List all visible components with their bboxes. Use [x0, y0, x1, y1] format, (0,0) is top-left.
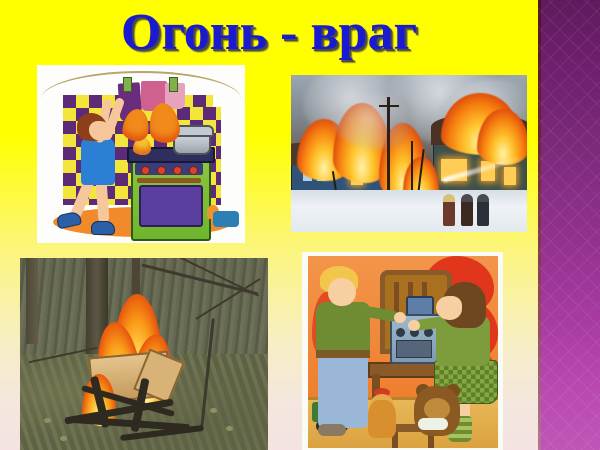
- picture-forest-bonfire[interactable]: [20, 258, 268, 450]
- kitchen-scene: [37, 65, 245, 243]
- side-band-texture: [538, 0, 600, 450]
- picture-kitchen-laundry-fire[interactable]: [37, 65, 245, 243]
- picture-children-toy-stove[interactable]: [302, 252, 503, 450]
- girl-hand: [408, 320, 420, 331]
- girl-shoe: [91, 221, 115, 235]
- girl-face: [436, 296, 462, 320]
- boy-jeans: [318, 356, 368, 428]
- oven-handle: [137, 178, 201, 183]
- fallen-leaf: [210, 408, 217, 413]
- boy-belt: [316, 350, 370, 358]
- tree-trunk: [26, 258, 38, 344]
- stove-knob: [157, 166, 166, 175]
- slide-canvas: Огонь - враг: [0, 0, 600, 450]
- boy-hand: [394, 312, 406, 323]
- fallen-leaf: [60, 436, 67, 441]
- village-fire-scene: [291, 75, 527, 232]
- firefighter-helmet: [477, 194, 489, 202]
- clothespin: [123, 77, 132, 92]
- power-pole-crossarm: [379, 105, 399, 107]
- stove-knob: [189, 166, 198, 175]
- fallen-leaf: [226, 426, 233, 431]
- fallen-leaf: [44, 418, 51, 423]
- snow-ground: [291, 190, 527, 232]
- house-window-burning: [504, 167, 516, 185]
- children-fire-scene: [302, 252, 503, 450]
- boy-face: [328, 278, 356, 306]
- stove-knob: [141, 166, 150, 175]
- stove-knob: [173, 166, 182, 175]
- bonfire-scene: [20, 258, 268, 450]
- decorative-side-band: [538, 0, 600, 450]
- clothespin: [169, 77, 178, 92]
- girl-dress: [81, 137, 115, 185]
- oven-door: [139, 185, 203, 227]
- smoke-cloud: [333, 93, 423, 149]
- teddy-bear-bib: [418, 418, 448, 430]
- picture-village-house-fire[interactable]: [291, 75, 527, 232]
- page-title: Огонь - враг: [0, 2, 538, 64]
- girl-face: [89, 121, 111, 141]
- boy-sandal: [318, 424, 346, 436]
- floor-toy: [213, 211, 239, 227]
- firefighter-helmet: [443, 194, 455, 202]
- toy-stove-door: [396, 340, 432, 358]
- toy-doll: [368, 400, 396, 438]
- toy-stove-knob: [396, 328, 405, 337]
- firefighter-helmet: [461, 194, 473, 202]
- teddy-bear-muzzle: [424, 398, 450, 420]
